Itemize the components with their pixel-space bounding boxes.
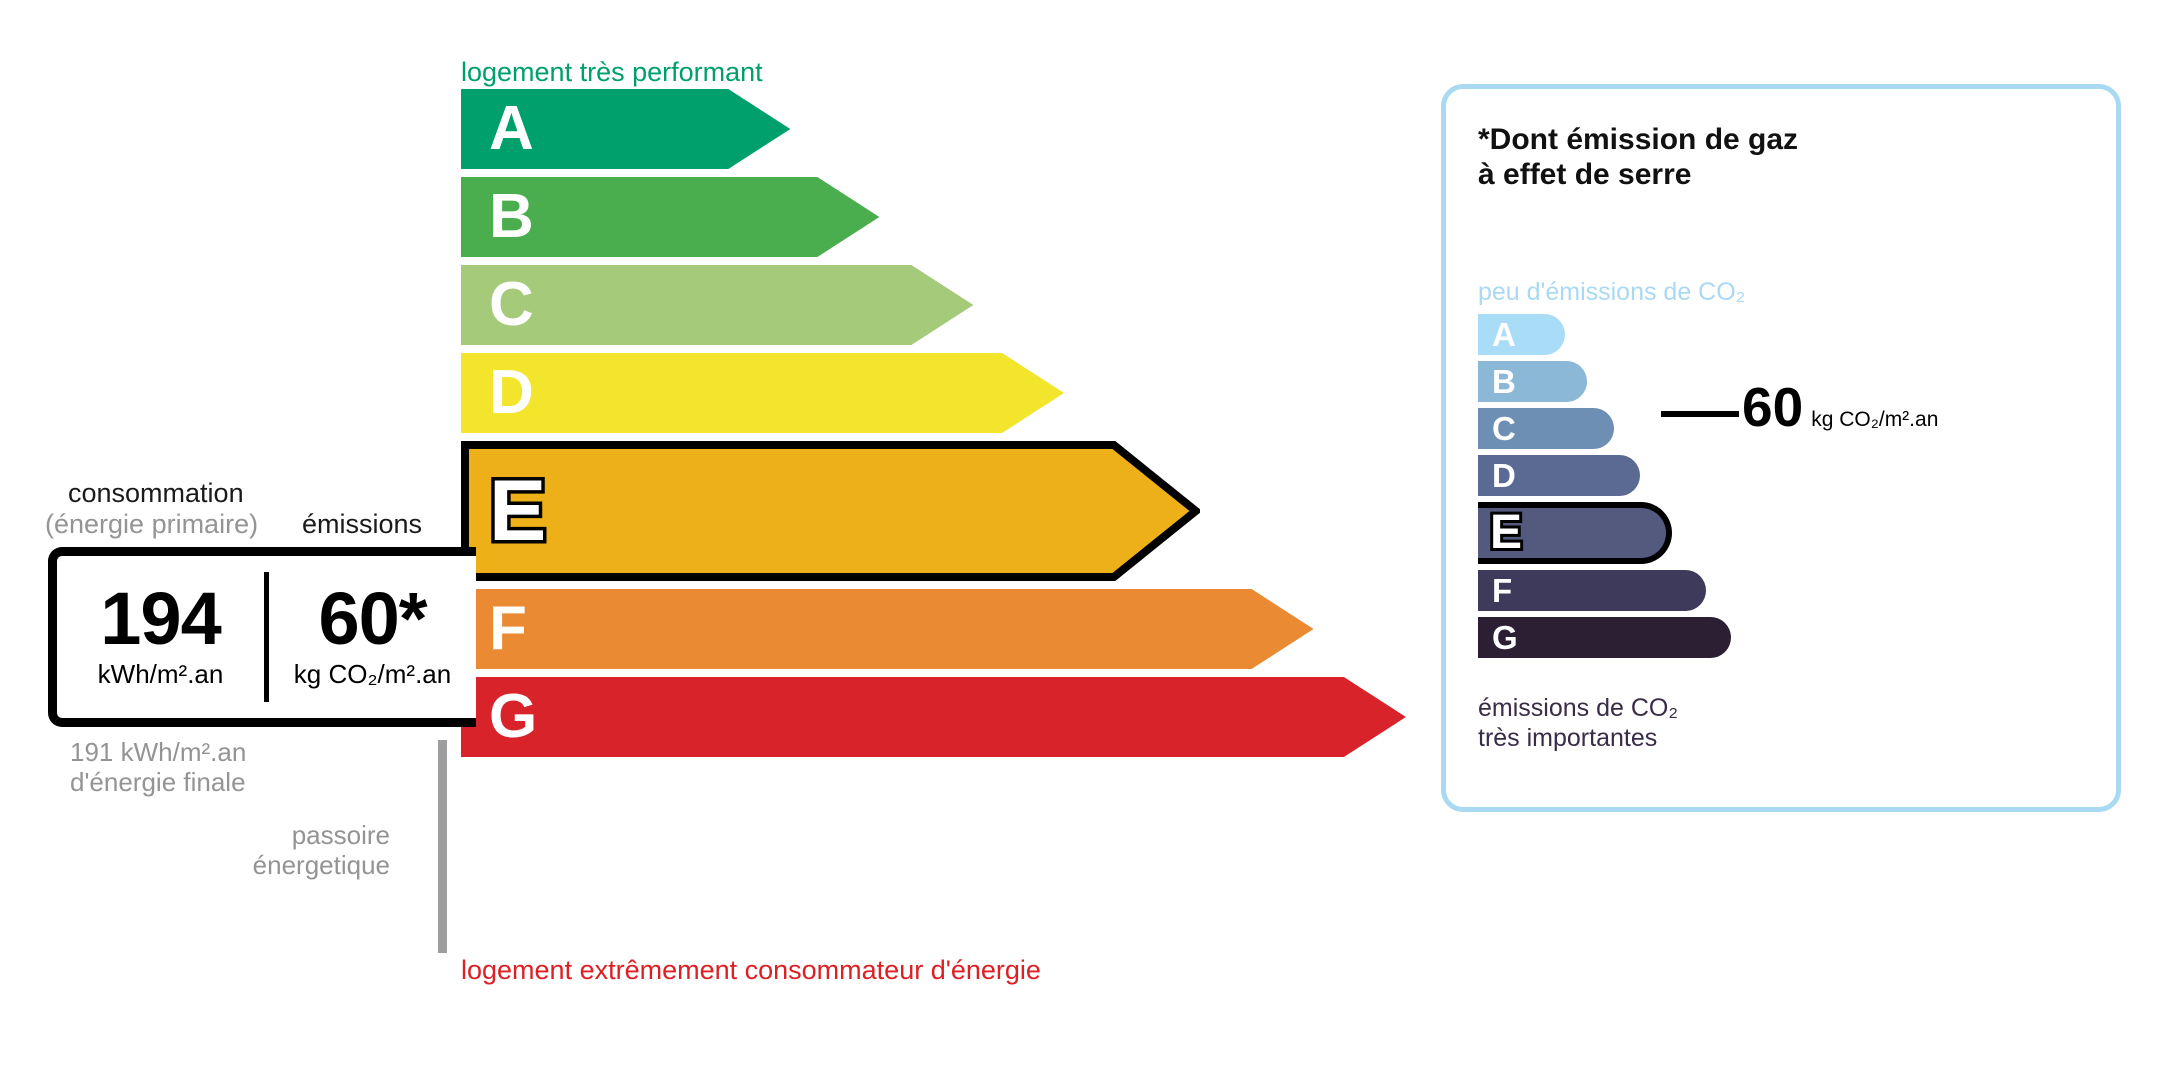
- arrow-shape-c: [461, 265, 973, 345]
- energy-top-caption: logement très performant: [461, 57, 763, 88]
- energy-performance-label: logement très performant ABCDEFG consomm…: [0, 0, 1400, 1079]
- arrow-d: D: [461, 353, 1064, 433]
- co2-callout-unit: kg CO₂/m².an: [1811, 408, 1938, 432]
- co2-bar-c: C: [1478, 408, 1614, 449]
- co2-class-row-g: G: [1478, 617, 1731, 658]
- arrow-f: F: [461, 589, 1314, 669]
- arrow-letter-e: E: [489, 468, 546, 554]
- co2-bar-d: D: [1478, 455, 1640, 496]
- arrow-g: G: [461, 677, 1406, 757]
- emissions-header-label: émissions: [302, 509, 422, 540]
- co2-bar-a: A: [1478, 314, 1565, 355]
- co2-class-row-a: A: [1478, 314, 1565, 355]
- co2-bar-f: F: [1478, 570, 1706, 611]
- co2-leader-line: [1661, 411, 1739, 417]
- co2-letter-f: F: [1492, 574, 1512, 607]
- co2-panel-title: *Dont émission de gazà effet de serre: [1478, 122, 1798, 193]
- co2-bar-g: G: [1478, 617, 1731, 658]
- arrow-letter-b: B: [489, 186, 534, 248]
- co2-bottom-caption: émissions de CO₂très importantes: [1478, 693, 1678, 753]
- co2-letter-b: B: [1492, 365, 1516, 398]
- energy-class-row-c: C: [461, 265, 973, 345]
- co2-top-caption: peu d'émissions de CO₂: [1478, 278, 1745, 307]
- arrow-letter-d: D: [489, 362, 534, 424]
- arrow-shape-e: [461, 441, 1200, 581]
- co2-letter-g: G: [1492, 621, 1518, 654]
- co2-bar-e: E: [1478, 502, 1672, 564]
- energy-class-row-a: A: [461, 89, 790, 169]
- co2-bar-b: B: [1478, 361, 1587, 402]
- consumption-subheader-label: (énergie primaire): [45, 509, 258, 540]
- arrow-b: B: [461, 177, 879, 257]
- co2-class-row-d: D: [1478, 455, 1640, 496]
- passoire-energetique-label: passoireénergetique: [190, 820, 390, 881]
- emissions-unit: kg CO₂/m².an: [294, 659, 451, 690]
- emissions-value-cell: 60* kg CO₂/m².an: [269, 584, 476, 689]
- arrow-letter-f: F: [489, 598, 527, 660]
- energy-class-row-e: E: [461, 441, 1200, 581]
- energy-class-row-d: D: [461, 353, 1064, 433]
- energy-bottom-caption: logement extrêmement consommateur d'éner…: [461, 955, 1041, 986]
- co2-class-row-e: E: [1478, 502, 1672, 564]
- arrow-shape-d: [461, 353, 1064, 433]
- consumption-unit: kWh/m².an: [98, 659, 224, 690]
- arrow-e: E: [461, 441, 1200, 581]
- co2-letter-c: C: [1492, 412, 1516, 445]
- final-energy-note: 191 kWh/m².and'énergie finale: [70, 737, 246, 798]
- arrow-letter-c: C: [489, 274, 534, 336]
- consumption-header-label: consommation: [68, 478, 244, 509]
- co2-callout-value: 60: [1742, 380, 1803, 435]
- co2-class-row-b: B: [1478, 361, 1587, 402]
- co2-letter-d: D: [1492, 459, 1516, 492]
- consumption-value-cell: 194 kWh/m².an: [57, 584, 264, 689]
- dpe-diagram: logement très performant ABCDEFG consomm…: [0, 0, 2169, 1079]
- co2-letter-a: A: [1492, 318, 1516, 351]
- arrow-shape-g: [461, 677, 1406, 757]
- values-box: 194 kWh/m².an 60* kg CO₂/m².an: [48, 547, 476, 727]
- consumption-value: 194: [100, 584, 220, 654]
- co2-class-row-f: F: [1478, 570, 1706, 611]
- co2-emissions-panel: *Dont émission de gazà effet de serre pe…: [1441, 84, 2121, 812]
- co2-class-row-c: C: [1478, 408, 1614, 449]
- energy-class-row-g: G: [461, 677, 1406, 757]
- arrow-letter-a: A: [489, 98, 534, 160]
- energy-class-row-b: B: [461, 177, 879, 257]
- energy-class-row-f: F: [461, 589, 1314, 669]
- co2-callout: 60 kg CO₂/m².an: [1742, 380, 1938, 435]
- emissions-value: 60*: [318, 584, 426, 654]
- arrow-c: C: [461, 265, 973, 345]
- co2-letter-e: E: [1490, 509, 1522, 557]
- arrow-letter-g: G: [489, 686, 537, 748]
- arrow-shape-f: [461, 589, 1314, 669]
- arrow-a: A: [461, 89, 790, 169]
- passoire-indicator-bar: [438, 740, 447, 953]
